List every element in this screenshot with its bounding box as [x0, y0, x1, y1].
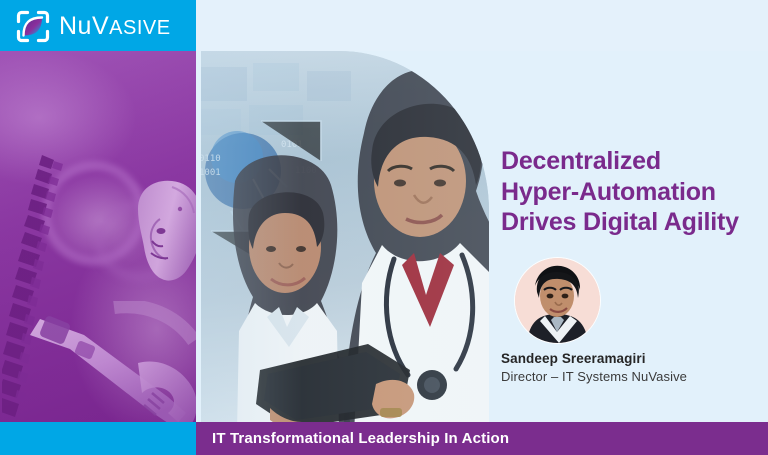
footer-banner-text: IT Transformational Leadership In Action	[212, 430, 509, 447]
footer-accent-block	[0, 422, 196, 455]
slide-title-line-1: Decentralized	[501, 146, 767, 177]
right-content-panel: Decentralized Hyper-Automation Drives Di…	[489, 51, 768, 422]
header-brand-bar: NuVASIVE	[0, 0, 196, 51]
speaker-avatar	[515, 258, 600, 343]
speaker-name: Sandeep Sreeramagiri	[501, 351, 646, 366]
brand-name: NuVASIVE	[59, 14, 171, 39]
center-image-panel: 0110 1001 0101 1100	[201, 51, 489, 422]
nuvasive-leaf-logo-icon	[16, 10, 50, 43]
slide-title-line-2: Hyper-Automation	[501, 177, 767, 208]
brand-logo: NuVASIVE	[16, 8, 171, 44]
footer-banner: IT Transformational Leadership In Action	[196, 422, 768, 455]
header-background	[196, 0, 768, 51]
slide-title: Decentralized Hyper-Automation Drives Di…	[501, 146, 767, 238]
slide-title-line-3: Drives Digital Agility	[501, 207, 767, 238]
left-image-panel	[0, 51, 196, 422]
left-panel-overlay	[0, 51, 196, 422]
speaker-role: Director – IT Systems NuVasive	[501, 369, 687, 384]
presentation-slide: NuVASIVE	[0, 0, 768, 455]
center-photo-overlay	[201, 51, 489, 422]
